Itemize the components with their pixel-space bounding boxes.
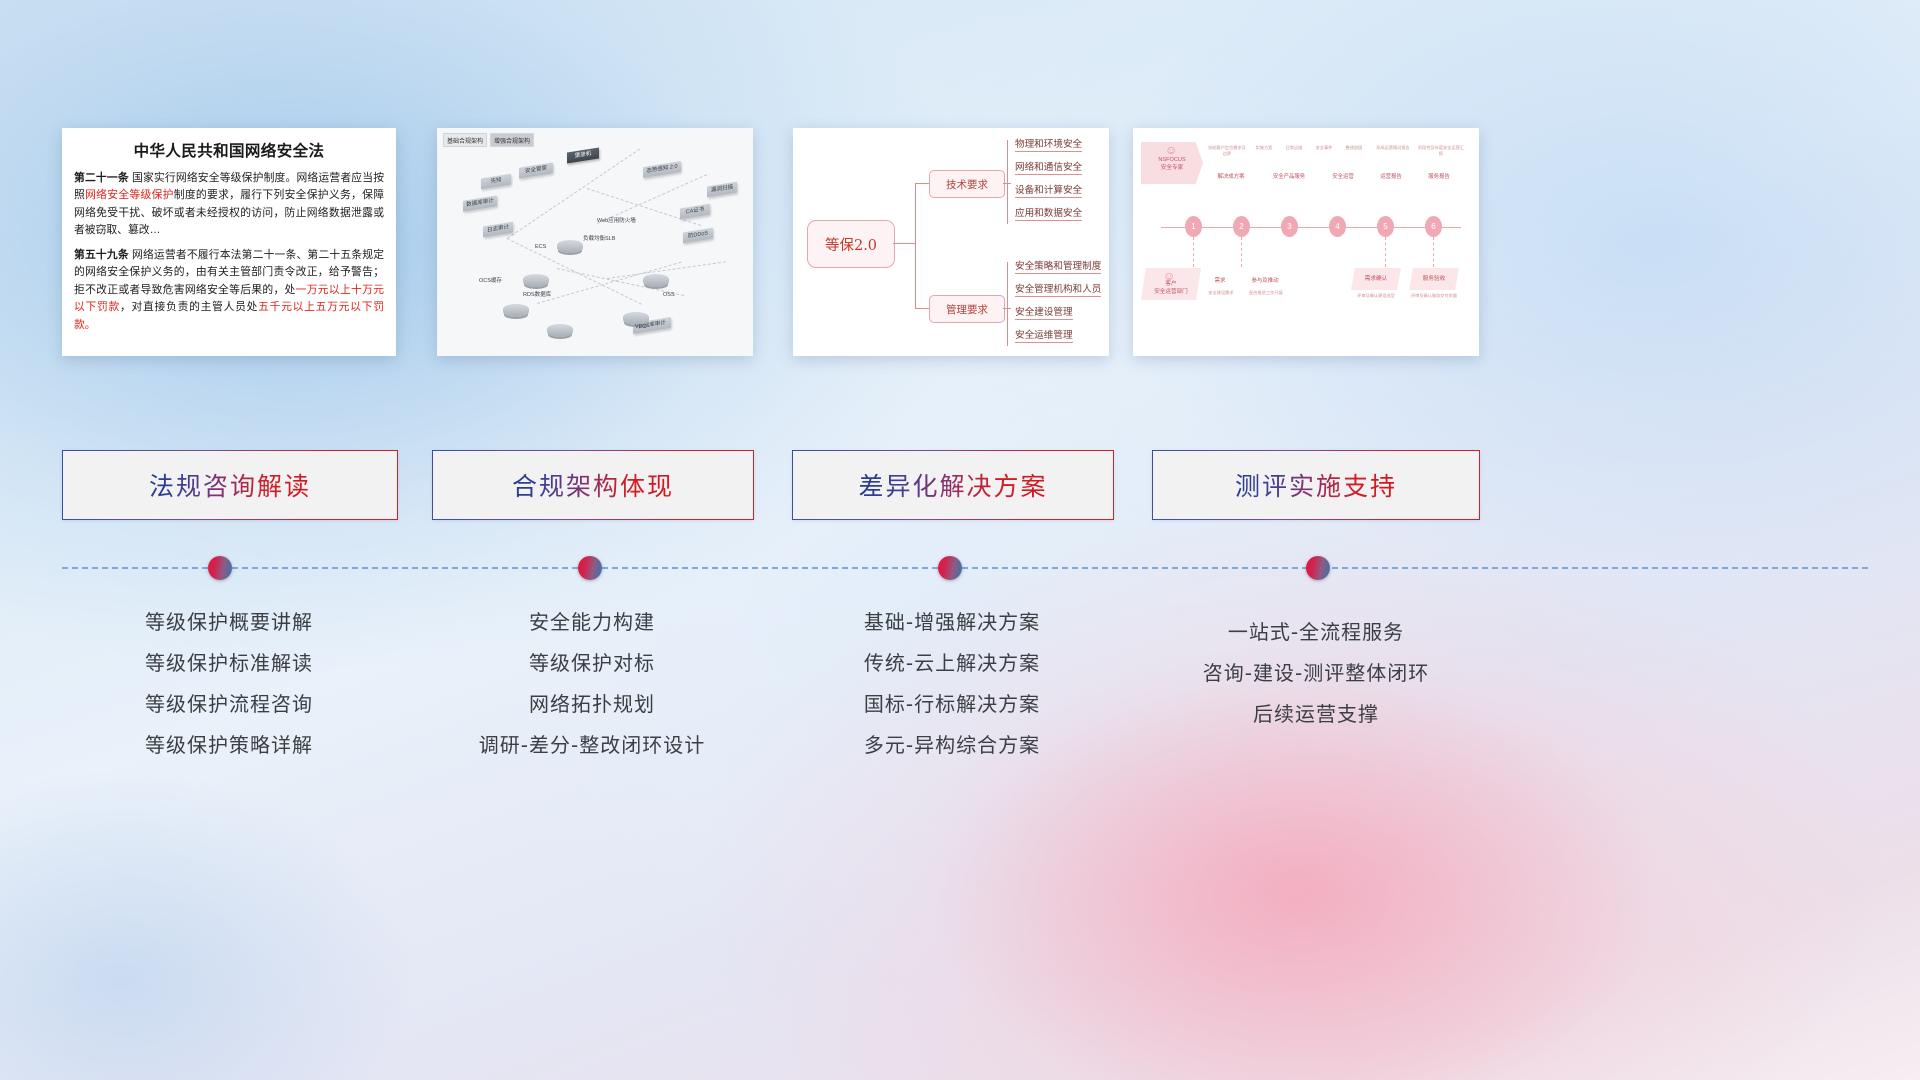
nsfocus-stage-label: 安全产品服务 xyxy=(1265,172,1313,180)
pillar-headline-box-4[interactable]: 测评实施支持 xyxy=(1152,450,1480,520)
pillar-headline-box-3[interactable]: 差异化解决方案 xyxy=(792,450,1114,520)
list-item: 等级保护策略详解 xyxy=(62,725,396,766)
arch-node-situational: 态势感知 2.0 xyxy=(643,161,681,178)
nsfocus-step-link xyxy=(1193,237,1194,267)
timeline-dot-4 xyxy=(1306,556,1330,580)
arch-node-ca: CA证书 xyxy=(680,204,710,220)
law-card-title: 中华人民共和国网络安全法 xyxy=(74,139,384,161)
list-item: 网络拓扑规划 xyxy=(432,684,752,725)
timeline-dot-2 xyxy=(578,556,602,580)
architecture-diagram: 基础合规架构 增强合规架构 先知 数据库审计 安全管家 堡垒机 日志审计 态势感… xyxy=(437,128,753,356)
nsfocus-step-4: 4 xyxy=(1329,216,1346,237)
arch-node-antiddos: 防DDoS xyxy=(683,228,713,244)
nsfocus-stage-label: 解决成方案 xyxy=(1207,172,1255,180)
nsfocus-bottom-quad-3: 需求确认 xyxy=(1351,268,1401,290)
mindmap-leaf: 设备和计算安全 xyxy=(1015,182,1082,198)
mindmap-connector xyxy=(1003,308,1011,309)
arch-label-vpc: VPC xyxy=(635,324,646,330)
nsfocus-customer-line2: 安全运营部门 xyxy=(1141,288,1201,296)
arch-label-ecs: ECS xyxy=(535,244,546,250)
nsfocus-bottom-tag-sub: 评审及确认服务交付质量 xyxy=(1405,293,1463,299)
mindmap-leaf: 网络和通信安全 xyxy=(1015,159,1082,175)
expert-person-icon: ☺ xyxy=(1165,144,1177,156)
nsfocus-bottom-tag-sub: 评审及确认建设选型 xyxy=(1347,293,1405,299)
mindmap-spine xyxy=(915,183,916,308)
list-item: 基础-增强解决方案 xyxy=(792,602,1112,643)
list-item: 传统-云上解决方案 xyxy=(792,643,1112,684)
nsfocus-step-2: 2 xyxy=(1233,216,1250,237)
pillar-headline-2: 合规架构体现 xyxy=(512,467,674,503)
arch-node-bastion: 堡垒机 xyxy=(567,147,599,163)
pillar-items-3: 基础-增强解决方案 传统-云上解决方案 国标-行标解决方案 多元-异构综合方案 xyxy=(792,602,1112,766)
law-article-59-label: 第五十九条 xyxy=(74,249,129,261)
architecture-tab-basic[interactable]: 基础合规架构 xyxy=(443,133,487,147)
nsfocus-persona-line2: 安全专家 xyxy=(1141,164,1203,172)
nsfocus-stage-sub: 实施方案 xyxy=(1251,145,1277,151)
pillar-items-4: 一站式-全流程服务 咨询-建设-测评整体闭环 后续运营支撑 xyxy=(1148,612,1484,735)
nsfocus-step-link xyxy=(1433,237,1434,267)
pillar-headline-4: 测评实施支持 xyxy=(1235,467,1397,503)
customer-person-icon: ☺ xyxy=(1163,270,1175,282)
law-card: 中华人民共和国网络安全法 第二十一条 国家实行网络安全等级保护制度。网络运营者应… xyxy=(62,128,396,356)
pillar-headline-1: 法规咨询解读 xyxy=(149,467,311,503)
law-article-59: 第五十九条 网络运营者不履行本法第二十一条、第二十五条规定的网络安全保护义务的，… xyxy=(74,247,384,334)
arch-label-oss: OSS xyxy=(663,292,675,298)
architecture-tab-enhanced[interactable]: 增强合规架构 xyxy=(490,133,534,147)
arch-cylinder-slb xyxy=(557,240,583,253)
arch-cylinder-oss xyxy=(643,274,669,287)
arch-cylinder-ocs xyxy=(503,304,529,317)
arch-cylinder-ecs xyxy=(523,274,549,287)
arch-label-ocs: OCS缓存 xyxy=(479,276,502,284)
architecture-card: 基础合规架构 增强合规架构 先知 数据库审计 安全管家 堡垒机 日志审计 态势感… xyxy=(437,128,753,356)
nsfocus-stage-sub: 安全事件 xyxy=(1311,145,1337,151)
mindmap-leaf: 安全策略和管理制度 xyxy=(1015,258,1101,274)
nsfocus-step-link xyxy=(1241,237,1242,267)
nsfocus-stage-label: 服务报告 xyxy=(1419,172,1459,180)
list-item: 等级保护流程咨询 xyxy=(62,684,396,725)
list-item: 一站式-全流程服务 xyxy=(1148,612,1484,653)
mindmap: 等保2.0 技术要求 管理要求 物理和环境安全 网络和通信安全 设备和计算安全 … xyxy=(793,128,1109,356)
nsfocus-bottom-tag-sub: 配合推进工作开展 xyxy=(1241,290,1291,296)
law-article-21-run-1: 网络安全等级保护 xyxy=(85,189,174,201)
mindmap-spine xyxy=(1007,262,1008,346)
pillar-headline-box-1[interactable]: 法规咨询解读 xyxy=(62,450,398,520)
nsfocus-bottom-tag-label: 服务验收 xyxy=(1409,275,1459,283)
nsfocus-stage-sub: 协助客户定位需求及边界 xyxy=(1207,145,1247,157)
arch-label-slb: 负载均衡SLB xyxy=(583,234,615,242)
architecture-tabs: 基础合规架构 增强合规架构 xyxy=(443,133,534,147)
mindmap-leaf: 安全建设管理 xyxy=(1015,304,1073,320)
mindmap-leaf: 安全运维管理 xyxy=(1015,327,1073,343)
nsfocus-flow: NSFOCUS 安全专家 ☺ 协助客户定位需求及边界 实施方案 日常运维 安全事… xyxy=(1133,128,1479,356)
mindmap-connector xyxy=(915,183,929,184)
arch-node-vuln-scan: 漏洞扫描 xyxy=(707,182,737,198)
mindmap-root-node: 等保2.0 xyxy=(807,220,895,268)
nsfocus-stage-label: 安全运营 xyxy=(1323,172,1363,180)
nsfocus-persona-line1: NSFOCUS xyxy=(1141,156,1203,164)
arch-label-waf: Web应用防火墙 xyxy=(597,216,636,224)
nsfocus-step-5: 5 xyxy=(1377,216,1394,237)
mindmap-branch-management: 管理要求 xyxy=(929,295,1005,323)
timeline-dashed-line xyxy=(62,567,1868,569)
mindmap-leaf: 物理和环境安全 xyxy=(1015,136,1082,152)
timeline-dot-3 xyxy=(938,556,962,580)
nsfocus-stage-sub: 日常运维 xyxy=(1281,145,1307,151)
pillar-items-2: 安全能力构建 等级保护对标 网络拓扑规划 调研-差分-整改闭环设计 xyxy=(432,602,752,766)
mindmap-spine xyxy=(1007,140,1008,224)
nsfocus-bottom-tag-label: 参与及推动 xyxy=(1243,276,1287,284)
list-item: 后续运营支撑 xyxy=(1148,694,1484,735)
nsfocus-step-1: 1 xyxy=(1185,216,1202,237)
nsfocus-stage-sub: 阶段性及年度安全运营汇报 xyxy=(1417,145,1465,157)
nsfocus-timeline-axis xyxy=(1161,227,1461,228)
nsfocus-step-link xyxy=(1385,237,1386,267)
mindmap-connector xyxy=(893,243,915,244)
list-item: 安全能力构建 xyxy=(432,602,752,643)
nsfocus-step-6: 6 xyxy=(1425,216,1442,237)
mindmap-branch-technical: 技术要求 xyxy=(929,170,1005,198)
nsfocus-stage-label: 运营报告 xyxy=(1371,172,1411,180)
nsfocus-bottom-tag-sub: 安全建设需求 xyxy=(1199,290,1243,296)
nsfocus-step-3: 3 xyxy=(1281,216,1298,237)
list-item: 多元-异构综合方案 xyxy=(792,725,1112,766)
list-item: 等级保护标准解读 xyxy=(62,643,396,684)
mindmap-connector xyxy=(1003,183,1011,184)
law-article-21: 第二十一条 国家实行网络安全等级保护制度。网络运营者应当按照网络安全等级保护制度… xyxy=(74,170,384,240)
nsfocus-bottom-quad-4: 服务验收 xyxy=(1409,268,1459,290)
list-item: 咨询-建设-测评整体闭环 xyxy=(1148,653,1484,694)
mindmap-card: 等保2.0 技术要求 管理要求 物理和环境安全 网络和通信安全 设备和计算安全 … xyxy=(793,128,1109,356)
nsfocus-flow-card: NSFOCUS 安全专家 ☺ 协助客户定位需求及边界 实施方案 日常运维 安全事… xyxy=(1133,128,1479,356)
list-item: 国标-行标解决方案 xyxy=(792,684,1112,725)
pillar-items-1: 等级保护概要讲解 等级保护标准解读 等级保护流程咨询 等级保护策略详解 xyxy=(62,602,396,766)
arch-node-xianzhi: 先知 xyxy=(481,174,511,190)
pillar-headline-3: 差异化解决方案 xyxy=(858,467,1047,503)
mindmap-leaf: 应用和数据安全 xyxy=(1015,205,1082,221)
arch-node-db-audit: 数据库审计 xyxy=(463,195,497,211)
nsfocus-stage-sub: 整改加固 xyxy=(1341,145,1367,151)
pillar-headline-box-2[interactable]: 合规架构体现 xyxy=(432,450,754,520)
law-article-21-label: 第二十一条 xyxy=(74,172,129,184)
law-card-body: 中华人民共和国网络安全法 第二十一条 国家实行网络安全等级保护制度。网络运营者应… xyxy=(62,128,396,356)
nsfocus-stage-sub: 形成运营情况报告 xyxy=(1371,145,1415,151)
nsfocus-bottom-tag-label: 需求 xyxy=(1203,276,1237,284)
arch-node-log-audit: 日志审计 xyxy=(483,222,513,238)
arch-node-anquanguanjia: 安全管家 xyxy=(519,162,553,178)
list-item: 等级保护概要讲解 xyxy=(62,602,396,643)
nsfocus-bottom-tag-label: 需求确认 xyxy=(1351,275,1401,283)
list-item: 调研-差分-整改闭环设计 xyxy=(432,725,752,766)
mindmap-leaf: 安全管理机构和人员 xyxy=(1015,281,1101,297)
timeline-dot-1 xyxy=(208,556,232,580)
mindmap-connector xyxy=(915,308,929,309)
law-article-59-run-2: ，对直接负责的主管人员处 xyxy=(120,301,258,313)
list-item: 等级保护对标 xyxy=(432,643,752,684)
arch-cylinder-rds xyxy=(547,324,573,337)
arch-label-rds: RDS数据库 xyxy=(523,290,551,298)
